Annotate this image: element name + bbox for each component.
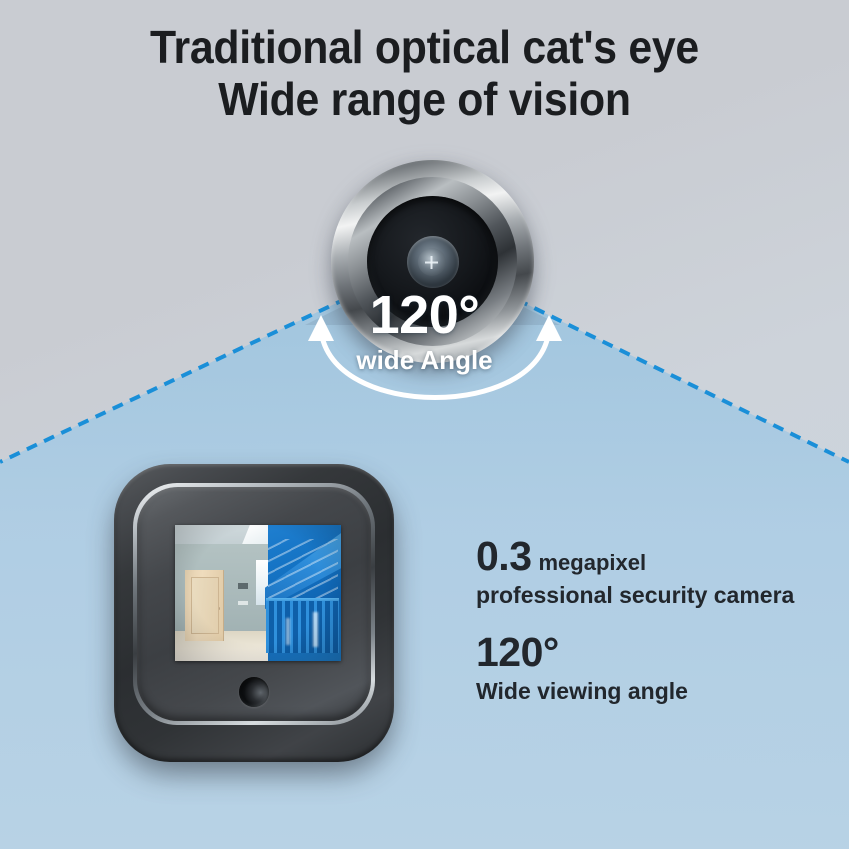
arrow-head-left-icon [308, 315, 334, 341]
device-screen[interactable] [175, 525, 341, 661]
spec-megapixel-description: professional security camera [476, 583, 794, 608]
spec-megapixel-row: 0.3 megapixel [476, 536, 794, 577]
product-graphic: Traditional optical cat's eye Wide range… [0, 0, 849, 849]
device-power-button[interactable] [239, 677, 269, 707]
scene-vignette [175, 525, 341, 661]
spec-viewing-angle-row: 120° [476, 632, 688, 673]
spec-viewing-angle: 120° Wide viewing angle [476, 632, 688, 704]
spec-viewing-angle-description: Wide viewing angle [476, 679, 688, 704]
spec-viewing-angle-value: 120° [476, 632, 559, 673]
arrow-head-right-icon [536, 315, 562, 341]
angle-arc [321, 330, 549, 398]
peephole-viewer-device [114, 464, 394, 762]
spec-megapixel: 0.3 megapixel professional security came… [476, 536, 794, 608]
spec-megapixel-value: 0.3 [476, 536, 532, 577]
spec-megapixel-unit: megapixel [539, 552, 647, 574]
